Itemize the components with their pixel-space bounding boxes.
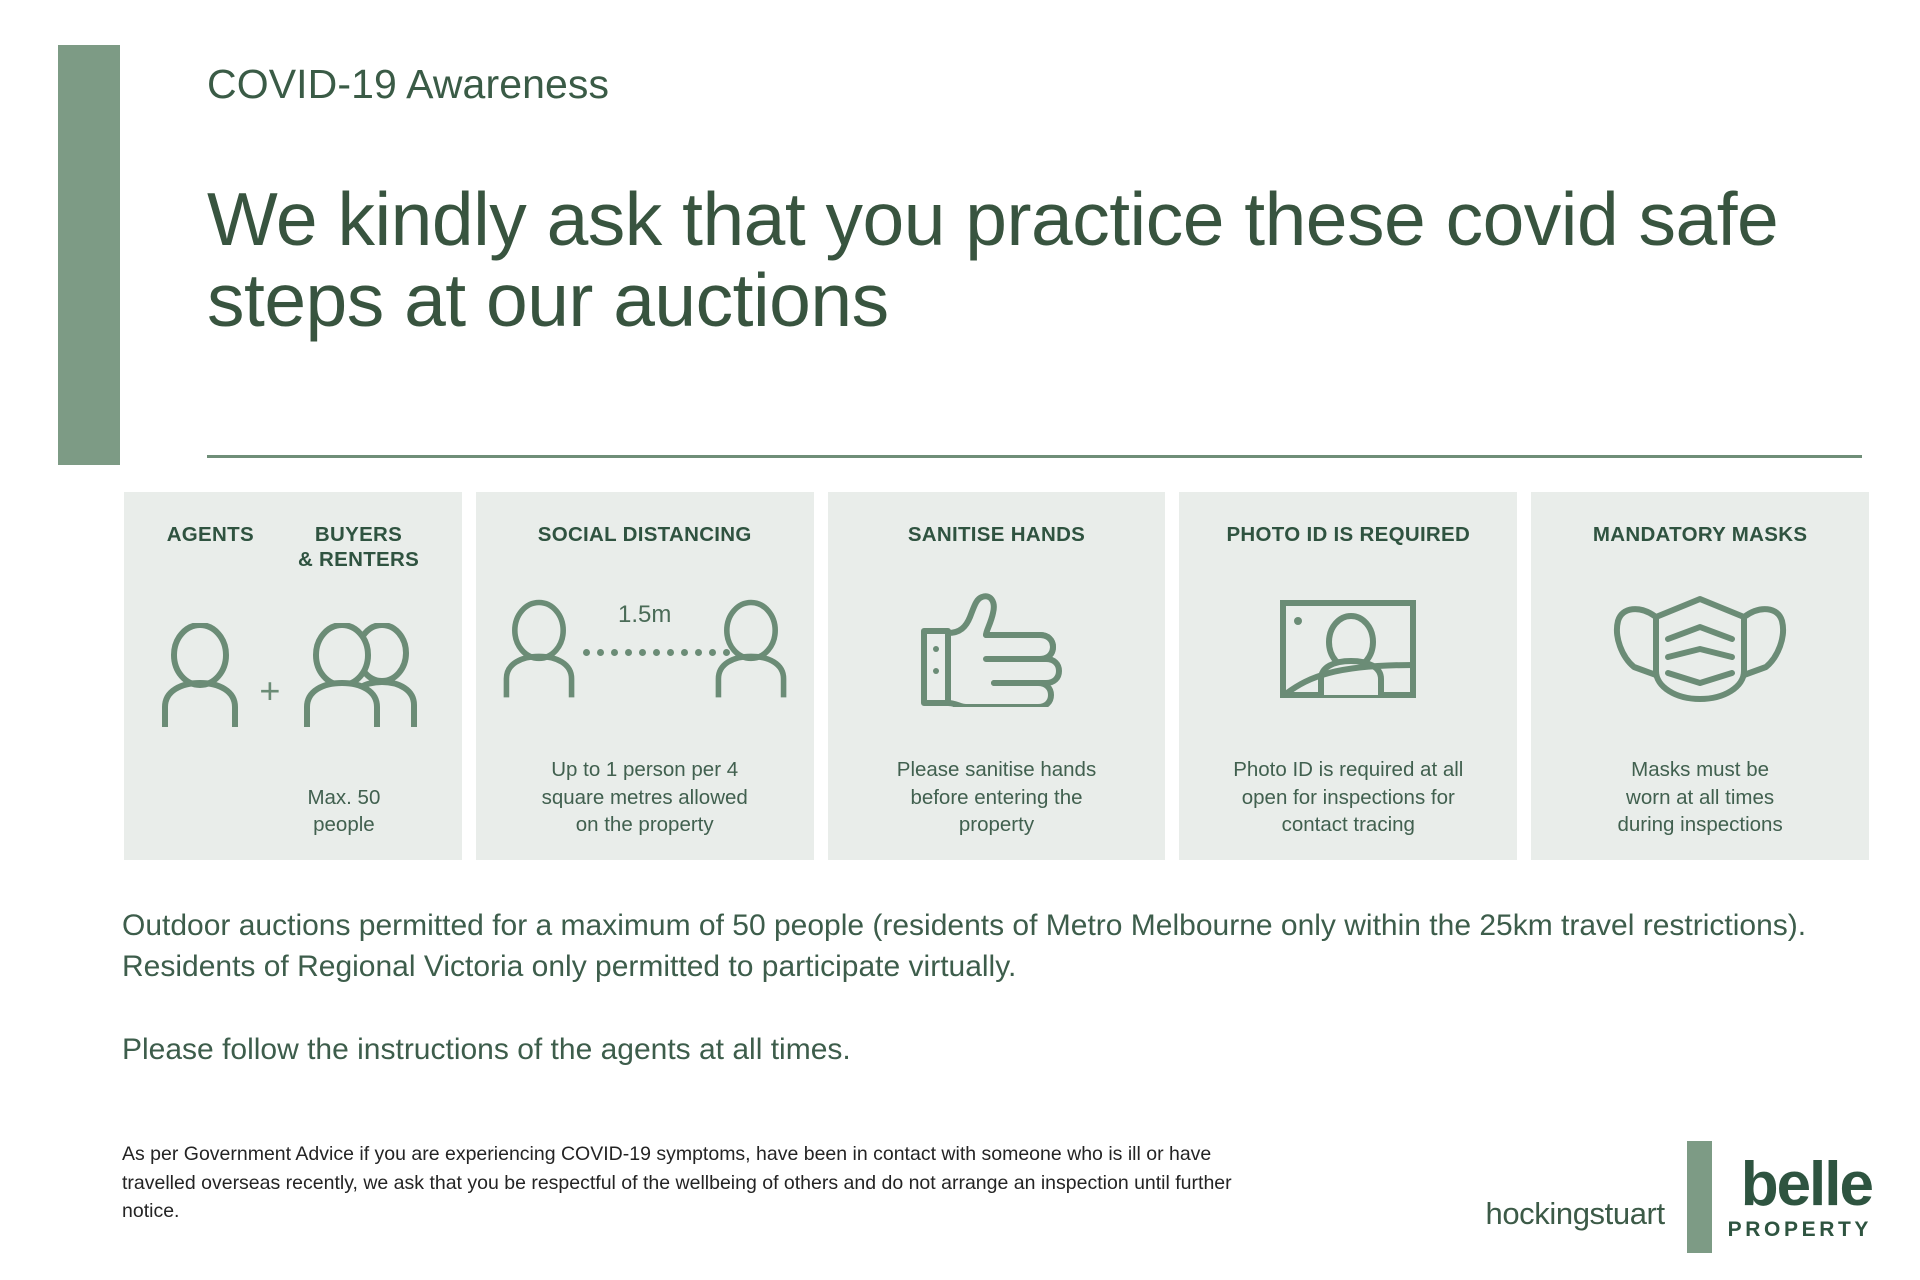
card-title-row: SANITISE HANDS (828, 492, 1166, 547)
card-title-row: AGENTS BUYERS & RENTERS (124, 492, 462, 572)
belle-wordmark: belle (1741, 1156, 1872, 1214)
face-mask-icon (1610, 595, 1790, 703)
plus-icon: + (259, 673, 280, 709)
photo-id-card-icon (1279, 599, 1417, 699)
footer-disclaimer: As per Government Advice if you are expe… (122, 1140, 1242, 1226)
card-title-row: PHOTO ID IS REQUIRED (1179, 492, 1517, 547)
card-icon-area (1531, 547, 1869, 756)
card-social-distancing: SOCIAL DISTANCING 1.5m U (476, 492, 814, 860)
distance-indicator: 1.5m (579, 597, 711, 701)
people-plus-people-icon: + (157, 623, 428, 727)
body-paragraph-1: Outdoor auctions permitted for a maximum… (122, 905, 1842, 987)
card-mandatory-masks: MANDATORY MASKS Masks must be worn at al… (1531, 492, 1869, 860)
card-caption-photo-id: Photo ID is required at all open for ins… (1179, 756, 1517, 860)
two-people-icon (296, 623, 428, 727)
logo-divider-bar (1687, 1141, 1712, 1253)
card-icon-area (1179, 547, 1517, 756)
card-title-mandatory-masks: MANDATORY MASKS (1593, 522, 1807, 547)
hand-sanitise-icon (916, 591, 1076, 707)
card-caption-mandatory-masks: Masks must be worn at all times during i… (1531, 756, 1869, 860)
card-photo-id: PHOTO ID IS REQUIRED Photo ID is require… (1179, 492, 1517, 860)
header-divider (207, 455, 1862, 458)
card-title-row: SOCIAL DISTANCING (476, 492, 814, 547)
social-distance-icon: 1.5m (499, 597, 791, 701)
card-title-agents: AGENTS (167, 522, 254, 547)
dotted-line-icon (583, 649, 730, 656)
body-paragraph-2: Please follow the instructions of the ag… (122, 1029, 1842, 1070)
left-accent-bar (58, 45, 120, 465)
header: COVID-19 Awareness We kindly ask that yo… (207, 60, 1867, 341)
card-caption-agents-buyers: Max. 50 people (124, 784, 462, 861)
card-title-social-distancing: SOCIAL DISTANCING (538, 522, 752, 547)
belle-property-logo: belle PROPERTY (1728, 1156, 1872, 1241)
brand-logo: hockingstuart belle PROPERTY (1485, 1138, 1872, 1256)
card-sanitise-hands: SANITISE HANDS Please sanitise hands bef… (828, 492, 1166, 860)
card-icon-area: 1.5m (476, 547, 814, 756)
body-copy: Outdoor auctions permitted for a maximum… (122, 905, 1842, 1070)
covid-steps-card-strip: AGENTS BUYERS & RENTERS + Max. 50 people (124, 492, 1869, 860)
card-caption-sanitise-hands: Please sanitise hands before entering th… (828, 756, 1166, 860)
card-caption-social-distancing: Up to 1 person per 4 square metres allow… (476, 756, 814, 860)
card-icon-area: + (124, 572, 462, 784)
card-agents-buyers-renters: AGENTS BUYERS & RENTERS + Max. 50 people (124, 492, 462, 860)
card-title-buyers-renters: BUYERS & RENTERS (298, 522, 419, 572)
card-icon-area (828, 547, 1166, 756)
hockingstuart-wordmark: hockingstuart (1485, 1196, 1664, 1232)
page-title: We kindly ask that you practice these co… (207, 179, 1867, 341)
eyebrow-label: COVID-19 Awareness (207, 60, 1867, 109)
distance-label: 1.5m (618, 601, 671, 629)
card-title-photo-id: PHOTO ID IS REQUIRED (1226, 522, 1470, 547)
card-title-row: MANDATORY MASKS (1531, 492, 1869, 547)
single-person-icon (157, 623, 243, 727)
card-title-sanitise-hands: SANITISE HANDS (908, 522, 1085, 547)
property-wordmark: PROPERTY (1728, 1218, 1872, 1242)
person-left-icon (499, 597, 579, 701)
